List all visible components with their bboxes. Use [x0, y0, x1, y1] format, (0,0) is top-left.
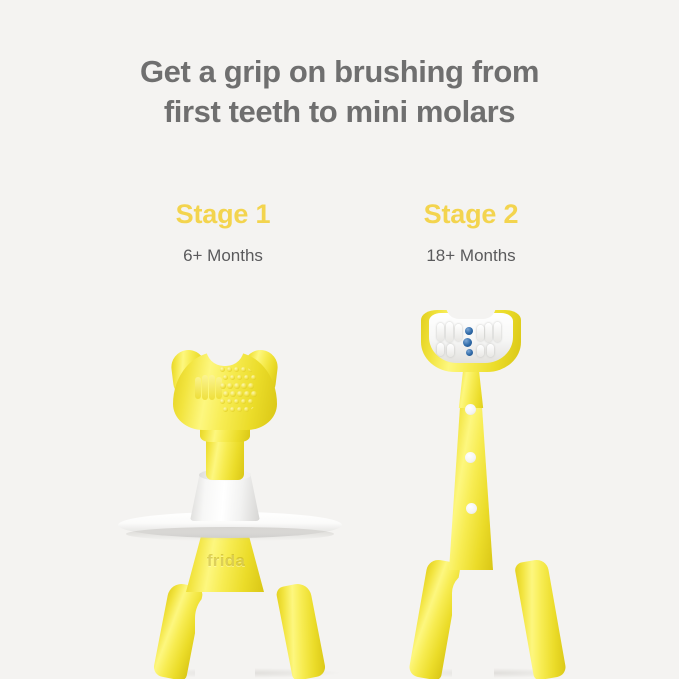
stage-2-grip-dot	[465, 404, 476, 415]
stage-1-leg-left	[152, 582, 204, 679]
stage-1-head-ridges	[190, 366, 222, 414]
stage-2-head-notch	[446, 306, 496, 319]
stage-2-grip-dot	[466, 503, 477, 514]
stage-2-leg-left	[408, 558, 461, 679]
stage-1-leg-gap	[195, 588, 255, 679]
brand-logo-frida: frida	[198, 551, 254, 571]
stage-1-safety-shield-collar	[190, 473, 260, 521]
stage-1-head-notch	[206, 348, 244, 366]
headline-line-2: first teeth to mini molars	[0, 92, 679, 132]
stage-2-handle	[449, 400, 493, 570]
stage-2-subtitle: 18+ Months	[341, 245, 601, 267]
stage-2-labels: Stage 2 18+ Months	[341, 198, 601, 267]
product-infographic: Get a grip on brushing from first teeth …	[0, 0, 679, 679]
stage-1-head-peak-left	[169, 348, 208, 396]
stage-2-neck	[455, 362, 487, 408]
stage-1-leg-right	[275, 582, 327, 679]
stage-2-leg-right	[514, 558, 567, 679]
page-title: Get a grip on brushing from first teeth …	[0, 52, 679, 132]
stage-1-neck-flare	[200, 412, 250, 442]
stage-2-ground-shadow	[410, 668, 570, 678]
stage-2-brush-head	[421, 310, 521, 372]
stage-1-title: Stage 1	[93, 198, 353, 230]
stage-2-title: Stage 2	[341, 198, 601, 230]
stage-1-labels: Stage 1 6+ Months	[93, 198, 353, 267]
stage-1-shield-shadow	[126, 527, 334, 541]
headline-line-1: Get a grip on brushing from	[0, 52, 679, 92]
stage-1-handle	[186, 528, 264, 592]
stage-2-grip-dot	[465, 452, 476, 463]
stage-1-head-nubs	[190, 364, 260, 416]
stage-1-safety-shield-disc	[118, 512, 342, 538]
stage-1-head-peak-right	[240, 348, 279, 396]
stage-1-collar-rim	[199, 469, 251, 481]
stage-2-bristle-field	[429, 313, 513, 363]
stage-2-leg-gap	[452, 572, 494, 679]
stage-1-subtitle: 6+ Months	[93, 245, 353, 267]
stage-1-teether-head	[173, 352, 277, 430]
stage-1-neck	[206, 420, 244, 480]
stage-1-ground-shadow	[150, 668, 340, 678]
